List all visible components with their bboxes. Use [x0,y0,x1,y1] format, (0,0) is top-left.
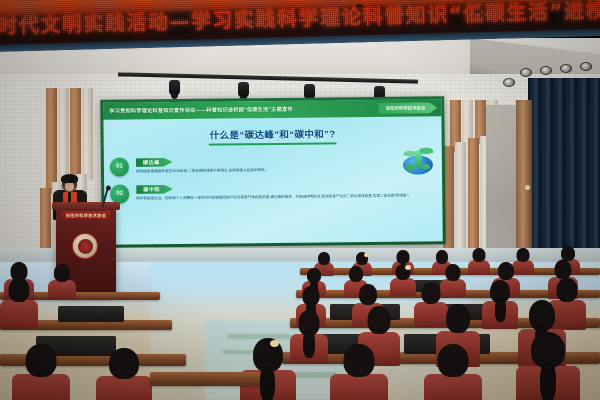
point-content: 碳中和 碳中和是指企业、团体或个人测算在一定时间内直接或间接产生的温室气体排放总… [136,175,436,202]
bird-silhouette-icon [548,14,555,17]
slide-org-badge-label: 安阳市科学技术协会 [386,105,426,111]
student [330,344,388,400]
point-body-text: 碳达峰是指我国承诺在2030年前,二氧化碳的排放不再增长,达到峰值之后逐步降低。 [136,167,322,175]
bird-silhouette-icon [474,10,481,13]
student [240,338,296,400]
ceiling-downlight-icon [560,64,572,73]
slide-org-badge: 安阳市科学技术协会 [379,102,438,114]
student [96,348,152,400]
wood-slat [46,88,57,194]
title-underline [209,142,337,145]
photo-scene: 学习贯彻科学理论科普知识宣传活动——科普知识进校园“低碳生活”主题宣传 安阳市科… [0,0,600,400]
bench-row [150,372,260,386]
speaker-face [65,182,74,191]
globe-with-sprout-icon [401,146,435,174]
student [12,344,70,400]
bird-silhouette-icon [356,4,363,7]
point-tag: 碳中和 [136,185,173,194]
slide-surface: 学习贯彻科学理论科普知识宣传活动——科普知识进校园“低碳生活”主题宣传 安阳市科… [103,99,442,245]
student [482,280,518,326]
point-content: 碳达峰 碳达峰是指我国承诺在2030年前,二氧化碳的排放不再增长,达到峰值之后逐… [136,148,436,175]
podium-plate-text: 安阳市科学技术协会 [66,213,106,219]
spotlight-icon [169,80,180,96]
student [48,264,76,298]
point-body-text: 碳中和是指企业、团体或个人测算在一定时间内直接或间接产生的温室气体排放总量,通过… [136,193,436,202]
slide-point: 02 碳中和 碳中和是指企业、团体或个人测算在一定时间内直接或间接产生的温室气体… [110,175,436,203]
projection-screen: 学习贯彻科学理论科普知识宣传活动——科普知识进校园“低碳生活”主题宣传 安阳市科… [100,96,446,248]
student [468,248,490,274]
wall-slat-pale [82,88,93,180]
spotlight-icon [238,82,249,98]
speaker-hair [61,174,78,183]
wall-slat-pale [455,142,466,258]
wall-slat-pale [58,88,69,188]
podium-top-surface [52,202,120,210]
slide-title: 什么是“碳达峰”和“碳中和”? [110,125,436,142]
wood-slat [468,138,479,258]
ceiling-downlight-icon [520,68,532,77]
point-number-badge: 02 [110,184,129,203]
ceiling-downlight-icon [540,66,552,75]
point-tag: 碳达峰 [136,158,173,167]
ceiling-downlight-icon [503,78,515,87]
crest-inner [78,239,93,254]
student [424,344,482,400]
slide-header-text: 学习贯彻科学理论科普知识宣传活动——科普知识进校园“低碳生活”主题宣传 [103,106,292,115]
ceiling-downlight-icon [580,62,592,71]
student [516,332,580,400]
slide-body: 什么是“碳达峰”和“碳中和”? 01 碳达峰 碳达峰是指我国承诺在2030年前,… [103,116,442,245]
podium-name-plate: 安阳市科学技术协会 [62,211,110,220]
bench-backrest [58,306,124,322]
point-number-badge: 01 [110,157,129,176]
school-crest-emblem-icon [72,233,98,259]
student [0,278,38,326]
slide-point: 01 碳达峰 碳达峰是指我国承诺在2030年前,二氧化碳的排放不再增长,达到峰值… [110,148,436,176]
student [390,264,416,294]
door-handle-icon[interactable] [525,185,530,190]
wood-slat [70,88,81,184]
